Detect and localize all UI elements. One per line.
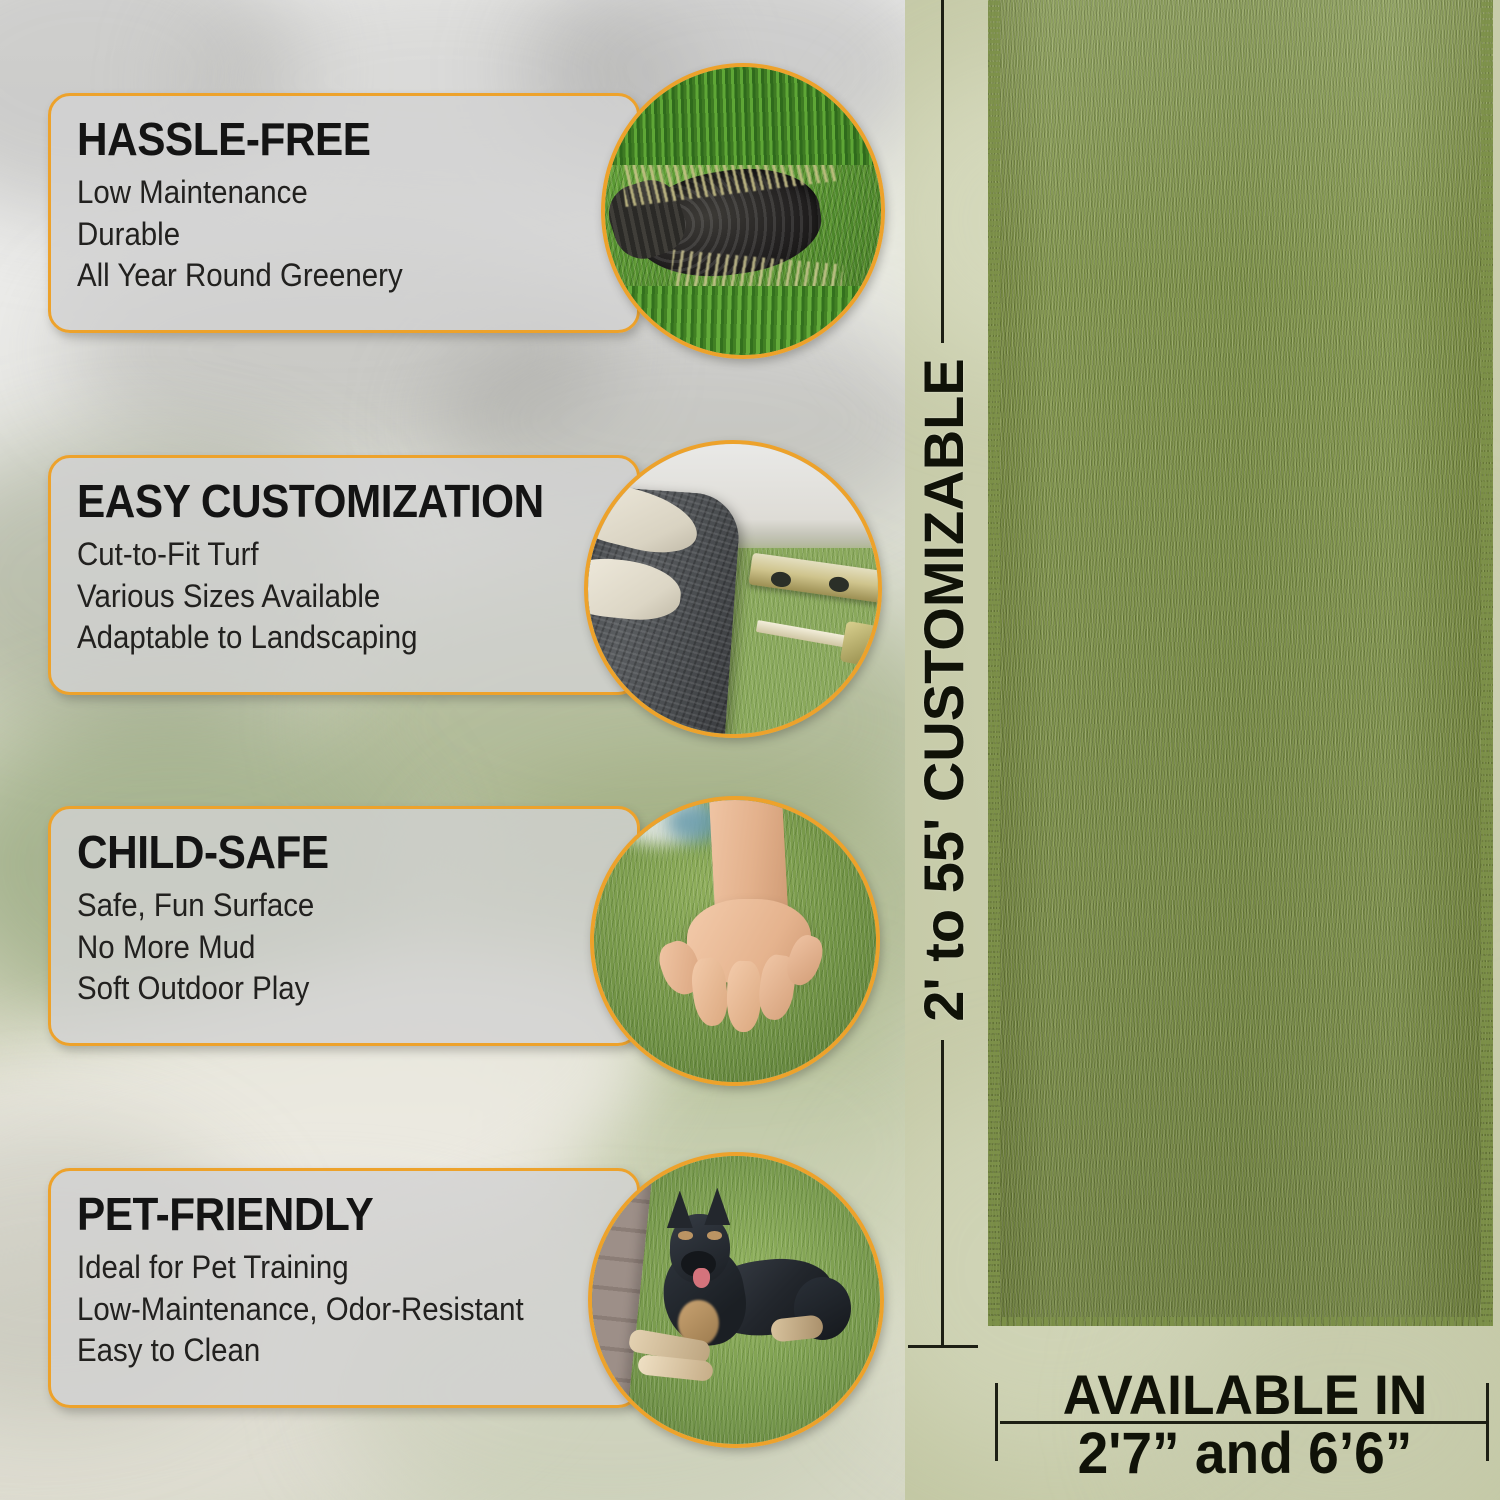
feature-card-child-safe[interactable]: CHILD-SAFE Safe, Fun Surface No More Mud… (48, 806, 640, 1046)
feature-bullet: Durable (77, 214, 568, 256)
available-in-label: AVAILABLE IN (1022, 1368, 1469, 1423)
feature-card-hassle-free[interactable]: HASSLE-FREE Low Maintenance Durable All … (48, 93, 640, 333)
feature-bullet: Easy to Clean (77, 1330, 568, 1372)
turf-sheen (988, 0, 1493, 1326)
feature-bullet: Soft Outdoor Play (77, 968, 568, 1010)
feature-title: EASY CUSTOMIZATION (77, 478, 568, 524)
turf-edge-left (988, 0, 1000, 1326)
feature-bullet: No More Mud (77, 927, 568, 969)
feature-bullet: Cut-to-Fit Turf (77, 534, 568, 576)
feature-title: HASSLE-FREE (77, 116, 568, 162)
feature-bullet: Safe, Fun Surface (77, 885, 568, 927)
turf-roll-backing-photo[interactable] (601, 63, 885, 359)
length-measure-label: 2' to 55' CUSTOMIZABLE (911, 340, 971, 1040)
feature-title: PET-FRIENDLY (77, 1191, 568, 1237)
width-measure-tick-right (1486, 1383, 1489, 1461)
feature-card-easy-customization[interactable]: EASY CUSTOMIZATION Cut-to-Fit Turf Vario… (48, 455, 640, 695)
available-sizes-label: 2'7” and 6’6” (1022, 1425, 1469, 1483)
turf-edge-right (1481, 0, 1493, 1326)
width-measure-tick-left (995, 1383, 998, 1461)
child-hand-on-turf-photo[interactable] (590, 796, 880, 1086)
feature-title: CHILD-SAFE (77, 829, 568, 875)
length-measure-line-lower (941, 1040, 944, 1345)
length-measure-line-upper (941, 0, 944, 343)
feature-bullet: Ideal for Pet Training (77, 1247, 568, 1289)
length-measure-end-tick (908, 1345, 978, 1348)
gloved-hands-installing-turf-photo[interactable] (584, 440, 882, 738)
dog-lying-on-turf-photo[interactable] (588, 1152, 884, 1448)
feature-bullet: Adaptable to Landscaping (77, 617, 568, 659)
feature-bullet: Low-Maintenance, Odor-Resistant (77, 1289, 568, 1331)
feature-card-pet-friendly[interactable]: PET-FRIENDLY Ideal for Pet Training Low-… (48, 1168, 640, 1408)
turf-edge-bottom (988, 1317, 1493, 1326)
width-measure-labels: AVAILABLE IN 2'7” and 6’6” (1010, 1368, 1480, 1483)
feature-bullet: Various Sizes Available (77, 576, 568, 618)
feature-bullet: Low Maintenance (77, 172, 568, 214)
artificial-turf-roll (988, 0, 1493, 1326)
feature-bullet: All Year Round Greenery (77, 255, 568, 297)
product-feature-infographic: HASSLE-FREE Low Maintenance Durable All … (0, 0, 1500, 1500)
